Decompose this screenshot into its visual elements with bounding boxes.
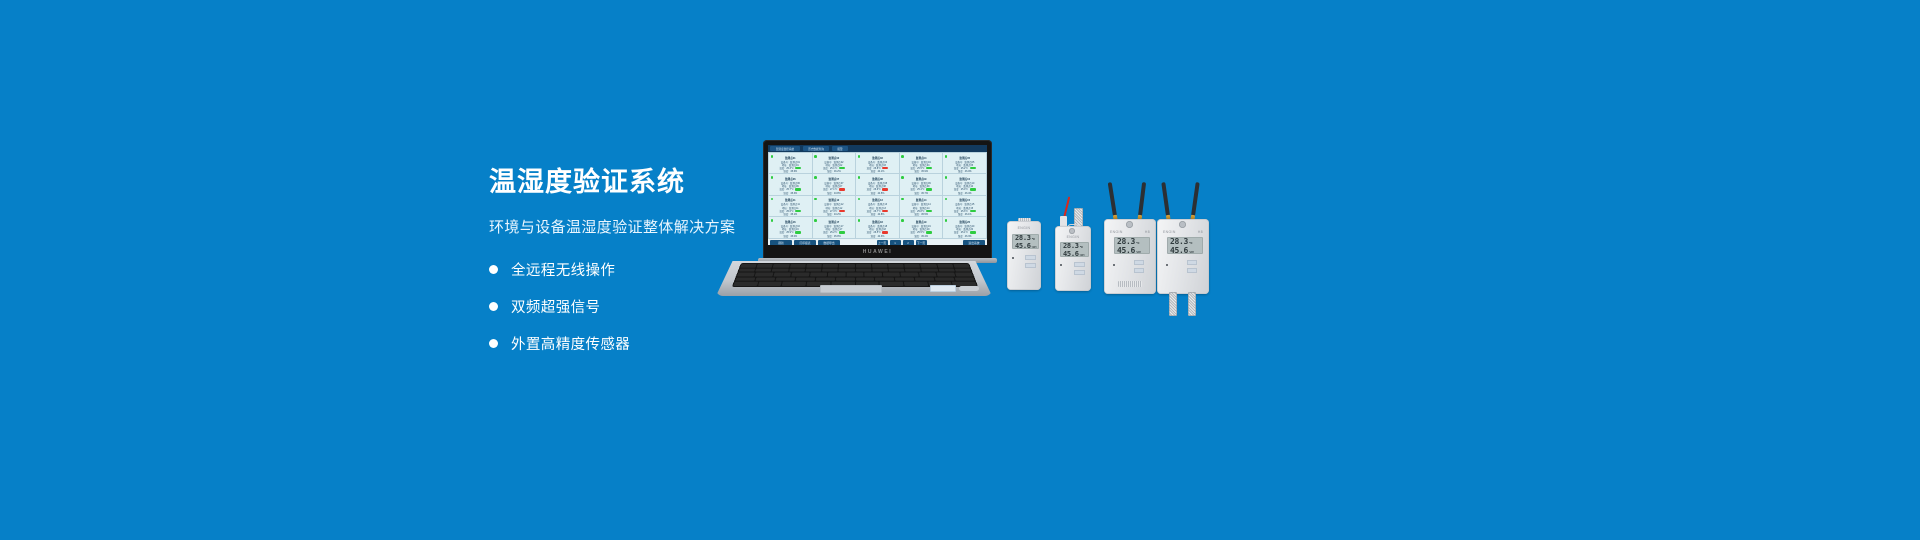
- bullet-dot-icon: [489, 339, 498, 348]
- card-field-label: 湿度:: [871, 213, 876, 216]
- keyboard-key[interactable]: [880, 282, 904, 286]
- card-field-value: 45.1%: [790, 213, 797, 216]
- keyboard-key[interactable]: [872, 268, 888, 271]
- card-status-led-icon: [945, 198, 948, 201]
- keyboard-key[interactable]: [822, 268, 838, 271]
- card-field-value: 45.0%: [790, 235, 797, 238]
- card-field-value: 45.7%: [921, 192, 928, 195]
- monitoring-card[interactable]: 监测点09设备号:监测点09地址:监测点09温度:25.4℃湿度:45.7%: [900, 174, 943, 194]
- card-status-led-icon: [771, 176, 774, 179]
- card-field-label: 湿度:: [958, 213, 963, 216]
- card-field-label: 湿度:: [871, 235, 876, 238]
- card-field-label: 湿度:: [783, 192, 788, 195]
- keyboard-key[interactable]: [938, 268, 955, 271]
- card-data-row: 湿度:44.1%: [871, 170, 885, 173]
- monitoring-card[interactable]: 监测点11设备号:监测点11地址:监测点11温度:25.6℃湿度:45.1%: [769, 196, 812, 216]
- card-field-value: 44.5%: [878, 192, 885, 195]
- card-field-label: 湿度:: [827, 235, 832, 238]
- card-data-row: 湿度:45.3%: [783, 192, 797, 195]
- card-alarm-indicator: [882, 167, 888, 169]
- dashboard-tab[interactable]: 历史数据查询: [803, 146, 829, 151]
- keyboard-row: [740, 264, 969, 267]
- bullet-dot-icon: [489, 265, 498, 274]
- dashboard-tab[interactable]: 温湿度监控系统: [770, 146, 800, 151]
- monitoring-card[interactable]: 监测点20设备号:监测点20地址:监测点20温度:25.1℃湿度:46.3%: [943, 217, 986, 237]
- keyboard-key[interactable]: [755, 277, 775, 281]
- card-field-value: 45.3%: [790, 192, 797, 195]
- card-alarm-indicator: [839, 188, 845, 190]
- card-field-value: 44.8%: [878, 213, 885, 216]
- keyboard-key[interactable]: [773, 264, 789, 267]
- dashboard-tab[interactable]: 报警: [832, 146, 848, 151]
- card-field-label: 湿度:: [827, 170, 832, 173]
- monitoring-card[interactable]: 监测点06设备号:监测点06地址:监测点06温度:25.7℃湿度:45.3%: [769, 174, 812, 194]
- feature-label: 外置高精度传感器: [511, 333, 630, 354]
- antenna-right-icon: [1138, 182, 1146, 216]
- card-data-row: 湿度:43.2%: [827, 213, 841, 216]
- card-alarm-indicator: [926, 231, 932, 233]
- monitoring-card[interactable]: 监测点15设备号:监测点15地址:监测点15温度:25.3℃湿度:46.1%: [943, 196, 986, 216]
- card-field-label: 湿度:: [914, 170, 919, 173]
- monitoring-card[interactable]: 监测点12设备号:监测点12地址:监测点12温度:27.3℃湿度:43.2%: [813, 196, 856, 216]
- card-title: 监测点08: [872, 177, 883, 181]
- card-data-row: 湿度:45.8%: [827, 235, 841, 238]
- external-probe-right-icon: [1188, 292, 1196, 316]
- card-alarm-indicator: [839, 231, 845, 233]
- keyboard-key[interactable]: [905, 268, 921, 271]
- device-vent-icon: [1118, 281, 1142, 287]
- device-lcd-display: 28.3℃ 45.6%RH: [1114, 237, 1150, 254]
- keyboard-key[interactable]: [810, 273, 828, 277]
- keyboard-key[interactable]: [904, 282, 928, 286]
- next-page-button[interactable]: 下一页: [916, 240, 927, 245]
- card-field-value: 44.3%: [878, 235, 885, 238]
- page-1-button[interactable]: 1: [890, 240, 901, 245]
- laptop-keyboard[interactable]: [732, 263, 978, 287]
- card-status-led-icon: [858, 219, 861, 222]
- card-data-row: 湿度:45.1%: [783, 213, 797, 216]
- keyboard-key[interactable]: [792, 273, 810, 277]
- prev-page-button[interactable]: 上一页: [877, 240, 888, 245]
- card-alarm-indicator: [970, 231, 976, 233]
- keyboard-key[interactable]: [790, 264, 806, 267]
- card-field-label: 湿度:: [914, 192, 919, 195]
- card-field-value: 46.4%: [965, 192, 972, 195]
- laptop-lid: 温湿度监控系统 历史数据查询 报警 监测点01设备号:监测点01地址:监测点01…: [763, 140, 992, 260]
- keyboard-key[interactable]: [733, 282, 758, 286]
- humidity-reading: 45.6%RH: [1015, 242, 1039, 250]
- card-field-value: 45.8%: [834, 235, 841, 238]
- card-data-row: 湿度:45.0%: [783, 235, 797, 238]
- monitoring-card[interactable]: 监测点18设备号:监测点18地址:监测点18温度:26.5℃湿度:44.3%: [856, 217, 899, 237]
- keyboard-key[interactable]: [919, 273, 937, 277]
- card-status-led-icon: [858, 176, 861, 179]
- device-body: ENGIN 28.3℃ 45.6%RH: [1055, 226, 1091, 291]
- card-field-value: 46.1%: [965, 213, 972, 216]
- keyboard-key[interactable]: [955, 277, 975, 281]
- card-field-label: 湿度:: [914, 213, 919, 216]
- card-title: 监测点02: [829, 156, 840, 160]
- card-title: 监测点14: [916, 198, 927, 202]
- monitoring-card-grid: 监测点01设备号:监测点01地址:监测点01温度:25.3℃湿度:45.6%监测…: [768, 152, 987, 239]
- monitoring-card[interactable]: 监测点08设备号:监测点08地址:监测点08温度:26.9℃湿度:44.5%: [856, 174, 899, 194]
- keyboard-key[interactable]: [775, 277, 795, 281]
- humidity-reading: 45.6%RH: [1063, 250, 1089, 258]
- keyboard-key[interactable]: [937, 273, 955, 277]
- card-title: 监测点18: [872, 220, 883, 224]
- device-model-label: ENGIN: [1007, 226, 1041, 230]
- keyboard-key[interactable]: [757, 264, 773, 267]
- keyboard-key[interactable]: [935, 277, 955, 281]
- sensor-device-wireless-probe: ENGIN H8 28.3℃ 45.6%RH: [1157, 182, 1209, 316]
- device-submodel-label: H8: [1145, 230, 1150, 234]
- refresh-button[interactable]: 刷新: [770, 240, 792, 245]
- card-title: 监测点20: [959, 220, 970, 224]
- device-button-up[interactable]: [1134, 260, 1144, 265]
- device-body: ENGIN H8 28.3℃ 45.6%RH: [1104, 219, 1156, 294]
- monitoring-card[interactable]: 监测点19设备号:监测点19地址:监测点19温度:25.5℃湿度:45.4%: [900, 217, 943, 237]
- temperature-reading: 28.3℃: [1170, 237, 1203, 246]
- laptop-base: [716, 261, 992, 296]
- keyboard-key[interactable]: [856, 264, 871, 267]
- card-data-row: 湿度:45.5%: [914, 213, 928, 216]
- keyboard-key[interactable]: [856, 277, 875, 281]
- card-title: 监测点04: [916, 156, 927, 160]
- card-field-value: 46.0%: [965, 170, 972, 173]
- card-data-row: 湿度:45.4%: [914, 235, 928, 238]
- keyboard-key[interactable]: [755, 273, 773, 277]
- feature-label: 双频超强信号: [511, 296, 600, 317]
- device-body: ENGIN H8 28.3℃ 45.6%RH: [1157, 219, 1209, 294]
- keyboard-key[interactable]: [839, 264, 854, 267]
- keyboard-key[interactable]: [805, 268, 821, 271]
- temperature-reading: 28.3℃: [1015, 234, 1039, 242]
- mount-hole-icon: [1126, 221, 1133, 228]
- card-alarm-indicator: [795, 231, 801, 233]
- card-title: 监测点16: [785, 220, 796, 224]
- card-alarm-indicator: [970, 210, 976, 212]
- antenna-right-icon: [1191, 182, 1200, 216]
- humidity-reading: 45.6%RH: [1117, 246, 1150, 255]
- card-alarm-indicator: [970, 167, 976, 169]
- card-data-row: 湿度:45.7%: [914, 192, 928, 195]
- probe-cable-icon: [1063, 196, 1070, 218]
- antenna-left-icon: [1108, 182, 1117, 216]
- keyboard-key[interactable]: [937, 264, 953, 267]
- keyboard-key[interactable]: [835, 277, 854, 281]
- keyboard-key[interactable]: [955, 268, 972, 271]
- monitoring-card[interactable]: 监测点02设备号:监测点02地址:监测点02温度:25.1℃湿度:46.2%: [813, 153, 856, 173]
- keyboard-key[interactable]: [789, 268, 805, 271]
- device-lcd-display: 28.3℃ 45.6%RH: [1060, 242, 1089, 257]
- keyboard-key[interactable]: [922, 268, 938, 271]
- card-data-row: 湿度:46.4%: [958, 192, 972, 195]
- card-field-label: 湿度:: [958, 192, 963, 195]
- card-alarm-indicator: [882, 210, 888, 212]
- card-field-label: 湿度:: [783, 235, 788, 238]
- card-status-led-icon: [814, 219, 817, 222]
- card-data-row: 湿度:45.6%: [783, 170, 797, 173]
- card-alarm-indicator: [970, 188, 976, 190]
- card-data-row: 湿度:45.9%: [914, 170, 928, 173]
- keyboard-key[interactable]: [872, 264, 888, 267]
- card-field-value: 44.1%: [878, 170, 885, 173]
- monitoring-card[interactable]: 监测点16设备号:监测点16地址:监测点16温度:25.9℃湿度:45.0%: [769, 217, 812, 237]
- card-data-row: 湿度:44.5%: [871, 192, 885, 195]
- card-data-row: 湿度:44.3%: [871, 235, 885, 238]
- keyboard-key[interactable]: [875, 277, 894, 281]
- keyboard-key[interactable]: [846, 273, 863, 277]
- device-submodel-label: H8: [1198, 230, 1203, 234]
- keyboard-key[interactable]: [889, 268, 905, 271]
- external-probe-left-icon: [1169, 292, 1177, 316]
- device-button-down[interactable]: [1025, 263, 1036, 268]
- card-title: 监测点07: [829, 177, 840, 181]
- card-field-label: 湿度:: [827, 213, 832, 216]
- card-field-value: 45.5%: [921, 213, 928, 216]
- laptop-badge-sticker: [959, 286, 979, 291]
- banner-stage: 温湿度验证系统 环境与设备温湿度验证整体解决方案 全远程无线操作 双频超强信号 …: [0, 0, 1920, 540]
- card-data-row: 湿度:46.2%: [827, 170, 841, 173]
- card-status-led-icon: [901, 176, 904, 179]
- card-status-led-icon: [771, 155, 774, 158]
- laptop-spec-sticker: [930, 285, 956, 292]
- keyboard-row: [735, 277, 975, 281]
- device-model-label: ENGIN: [1163, 230, 1176, 234]
- keyboard-key[interactable]: [839, 268, 855, 271]
- monitoring-card[interactable]: 监测点10设备号:监测点10地址:监测点10温度:25.0℃湿度:46.4%: [943, 174, 986, 194]
- monitoring-card[interactable]: 监测点01设备号:监测点01地址:监测点01温度:25.3℃湿度:45.6%: [769, 153, 812, 173]
- card-field-value: 43.8%: [834, 192, 841, 195]
- humidity-reading: 45.6%RH: [1170, 246, 1203, 255]
- monitoring-card[interactable]: 监测点07设备号:监测点07地址:监测点07温度:27.1℃湿度:43.8%: [813, 174, 856, 194]
- card-status-led-icon: [858, 155, 861, 158]
- monitoring-card[interactable]: 监测点13设备号:监测点13地址:监测点13温度:26.7℃湿度:44.8%: [856, 196, 899, 216]
- card-field-label: 湿度:: [871, 170, 876, 173]
- sensor-device-compact-logger: ENGIN 28.3℃ 45.6%RH: [1007, 218, 1041, 290]
- card-field-value: 43.2%: [834, 213, 841, 216]
- card-field-value: 46.3%: [965, 235, 972, 238]
- device-lcd-display: 28.3℃ 45.6%RH: [1012, 234, 1039, 249]
- antenna-left-icon: [1161, 182, 1170, 216]
- exit-system-button[interactable]: 退出系统: [963, 240, 985, 245]
- device-button-down[interactable]: [1074, 270, 1085, 275]
- keyboard-key[interactable]: [795, 277, 814, 281]
- keyboard-key[interactable]: [773, 273, 791, 277]
- keyboard-key[interactable]: [865, 273, 882, 277]
- device-model-label: ENGIN: [1055, 235, 1091, 239]
- keyboard-key[interactable]: [915, 277, 935, 281]
- dashboard-tabbar: 温湿度监控系统 历史数据查询 报警: [768, 145, 987, 152]
- card-status-led-icon: [901, 219, 904, 222]
- card-field-label: 湿度:: [827, 192, 832, 195]
- keyboard-row: [739, 268, 972, 271]
- monitoring-card[interactable]: 监测点14设备号:监测点14地址:监测点14温度:25.8℃湿度:45.5%: [900, 196, 943, 216]
- monitoring-dashboard: 温湿度监控系统 历史数据查询 报警 监测点01设备号:监测点01地址:监测点01…: [768, 145, 987, 245]
- device-body: ENGIN 28.3℃ 45.6%RH: [1007, 221, 1041, 290]
- status-led-icon: [1012, 257, 1014, 259]
- card-alarm-indicator: [795, 188, 801, 190]
- card-status-led-icon: [771, 219, 774, 222]
- card-field-label: 湿度:: [783, 170, 788, 173]
- card-data-row: 湿度:46.3%: [958, 235, 972, 238]
- card-field-label: 湿度:: [914, 235, 919, 238]
- keyboard-key[interactable]: [904, 264, 920, 267]
- keyboard-key[interactable]: [828, 273, 845, 277]
- laptop-screen: 温湿度监控系统 历史数据查询 报警 监测点01设备号:监测点01地址:监测点01…: [768, 145, 987, 245]
- card-alarm-indicator: [926, 188, 932, 190]
- bullet-dot-icon: [489, 302, 498, 311]
- device-button-down[interactable]: [1187, 268, 1197, 273]
- card-title: 监测点01: [785, 156, 796, 160]
- status-led-icon: [1113, 264, 1115, 266]
- keyboard-key[interactable]: [901, 273, 919, 277]
- device-button-up[interactable]: [1025, 255, 1036, 260]
- card-alarm-indicator: [839, 167, 845, 169]
- monitoring-card[interactable]: 监测点03设备号:监测点03地址:监测点03温度:26.8℃湿度:44.1%: [856, 153, 899, 173]
- card-title: 监测点06: [785, 177, 796, 181]
- keyboard-key[interactable]: [735, 277, 755, 281]
- card-status-led-icon: [814, 176, 817, 179]
- mount-hole-icon: [1069, 228, 1075, 234]
- card-status-led-icon: [945, 219, 948, 222]
- monitoring-card[interactable]: 监测点17设备号:监测点17地址:监测点17温度:25.2℃湿度:45.8%: [813, 217, 856, 237]
- card-data-row: 湿度:44.8%: [871, 213, 885, 216]
- card-title: 监测点19: [916, 220, 927, 224]
- card-field-label: 湿度:: [958, 235, 963, 238]
- card-field-label: 湿度:: [958, 170, 963, 173]
- card-field-value: 45.4%: [921, 235, 928, 238]
- keyboard-key[interactable]: [823, 264, 839, 267]
- device-button-up[interactable]: [1187, 260, 1197, 265]
- card-data-row: 湿度:46.0%: [958, 170, 972, 173]
- card-field-label: 湿度:: [871, 192, 876, 195]
- card-alarm-indicator: [882, 188, 888, 190]
- mount-hole-icon: [1179, 221, 1186, 228]
- device-model-label: ENGIN: [1110, 230, 1123, 234]
- card-title: 监测点12: [829, 198, 840, 202]
- status-led-icon: [1060, 264, 1062, 266]
- status-led-icon: [1166, 264, 1168, 266]
- card-alarm-indicator: [926, 167, 932, 169]
- card-alarm-indicator: [839, 210, 845, 212]
- laptop-trackpad[interactable]: [820, 285, 882, 293]
- card-field-value: 45.9%: [921, 170, 928, 173]
- keyboard-key[interactable]: [737, 273, 755, 277]
- card-alarm-indicator: [795, 210, 801, 212]
- card-data-row: 湿度:46.1%: [958, 213, 972, 216]
- card-alarm-indicator: [926, 210, 932, 212]
- card-alarm-indicator: [882, 231, 888, 233]
- card-title: 监测点03: [872, 156, 883, 160]
- card-title: 监测点13: [872, 198, 883, 202]
- export-data-button[interactable]: 数据导出: [818, 240, 840, 245]
- card-status-led-icon: [814, 155, 817, 158]
- card-title: 监测点09: [916, 177, 927, 181]
- card-title: 监测点17: [829, 220, 840, 224]
- keyboard-key[interactable]: [739, 268, 756, 271]
- device-model-labels: ENGIN H8: [1104, 230, 1156, 234]
- card-status-led-icon: [901, 198, 904, 201]
- card-status-led-icon: [945, 155, 948, 158]
- keyboard-key[interactable]: [815, 277, 834, 281]
- sensor-device-probe-logger: ENGIN 28.3℃ 45.6%RH: [1053, 196, 1093, 291]
- card-status-led-icon: [858, 198, 861, 201]
- card-field-value: 46.2%: [834, 170, 841, 173]
- keyboard-key[interactable]: [883, 273, 901, 277]
- laptop-product-image: 温湿度监控系统 历史数据查询 报警 监测点01设备号:监测点01地址:监测点01…: [716, 140, 992, 300]
- page-2-button[interactable]: 2: [903, 240, 914, 245]
- keyboard-key[interactable]: [758, 282, 782, 286]
- monitoring-card[interactable]: 监测点04设备号:监测点04地址:监测点04温度:25.5℃湿度:45.9%: [900, 153, 943, 173]
- monitoring-card[interactable]: 监测点05设备号:监测点05地址:监测点05温度:25.2℃湿度:46.0%: [943, 153, 986, 173]
- feature-bullet: 外置高精度传感器: [489, 333, 909, 354]
- print-report-button[interactable]: 打印报表: [794, 240, 816, 245]
- card-status-led-icon: [771, 198, 774, 201]
- card-field-label: 湿度:: [783, 213, 788, 216]
- card-title: 监测点11: [785, 198, 796, 202]
- card-data-row: 湿度:43.8%: [827, 192, 841, 195]
- keyboard-key[interactable]: [953, 264, 970, 267]
- keyboard-key[interactable]: [888, 264, 904, 267]
- keyboard-key[interactable]: [806, 264, 822, 267]
- keyboard-key[interactable]: [740, 264, 757, 267]
- dashboard-toolbar: 刷新 打印报表 数据导出 上一页 1 2 下一页 退出系统: [768, 239, 987, 245]
- keyboard-key[interactable]: [955, 273, 973, 277]
- device-button-down[interactable]: [1134, 268, 1144, 273]
- feature-label: 全远程无线操作: [511, 259, 615, 280]
- keyboard-key[interactable]: [921, 264, 937, 267]
- keyboard-key[interactable]: [895, 277, 914, 281]
- keyboard-key[interactable]: [755, 268, 772, 271]
- temperature-reading: 28.3℃: [1117, 237, 1150, 246]
- card-status-led-icon: [945, 176, 948, 179]
- keyboard-key[interactable]: [772, 268, 788, 271]
- card-title: 监测点15: [959, 198, 970, 202]
- keyboard-row: [737, 273, 973, 277]
- card-alarm-indicator: [795, 167, 801, 169]
- device-button-up[interactable]: [1074, 262, 1085, 267]
- sensor-device-wireless: ENGIN H8 28.3℃ 45.6%RH: [1104, 182, 1156, 294]
- device-model-labels: ENGIN H8: [1157, 230, 1209, 234]
- device-lcd-display: 28.3℃ 45.6%RH: [1167, 237, 1203, 254]
- card-status-led-icon: [901, 155, 904, 158]
- temperature-reading: 28.3℃: [1063, 242, 1089, 250]
- card-field-value: 45.6%: [790, 170, 797, 173]
- keyboard-key[interactable]: [856, 268, 872, 271]
- card-title: 监测点05: [959, 156, 970, 160]
- keyboard-key[interactable]: [782, 282, 806, 286]
- card-status-led-icon: [814, 198, 817, 201]
- card-title: 监测点10: [959, 177, 970, 181]
